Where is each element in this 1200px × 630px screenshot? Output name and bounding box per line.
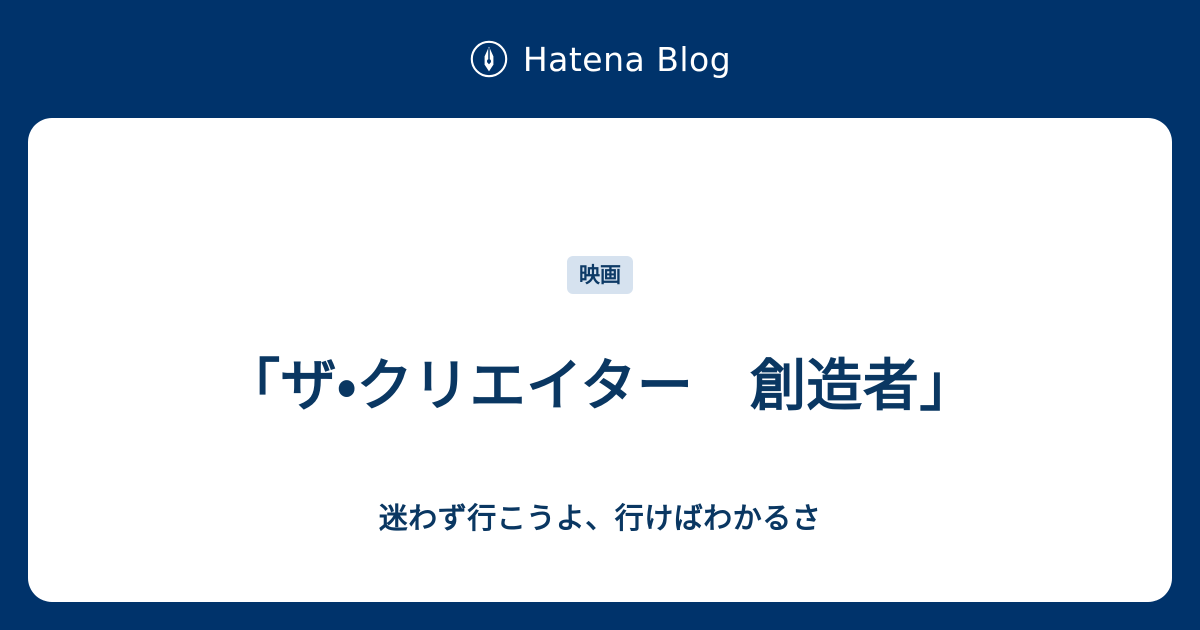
brand-name: Hatena Blog xyxy=(523,43,731,76)
entry-title: 「ザ・クリエイター 創造者」 xyxy=(28,352,1172,422)
brand-header: Hatena Blog xyxy=(0,0,1200,118)
entry-card: 映画 「ザ・クリエイター 創造者」 迷わず行こうよ、行けばわかるさ xyxy=(28,118,1172,602)
hatena-pen-nib-circle-icon xyxy=(469,39,509,79)
blog-subtitle: 迷わず行こうよ、行けばわかるさ xyxy=(28,500,1172,538)
category-badge[interactable]: 映画 xyxy=(567,256,633,294)
entry-card-inner: 映画 「ザ・クリエイター 創造者」 迷わず行こうよ、行けばわかるさ xyxy=(28,118,1172,602)
ogp-card-root: Hatena Blog 映画 「ザ・クリエイター 創造者」 迷わず行こうよ、行け… xyxy=(0,0,1200,630)
